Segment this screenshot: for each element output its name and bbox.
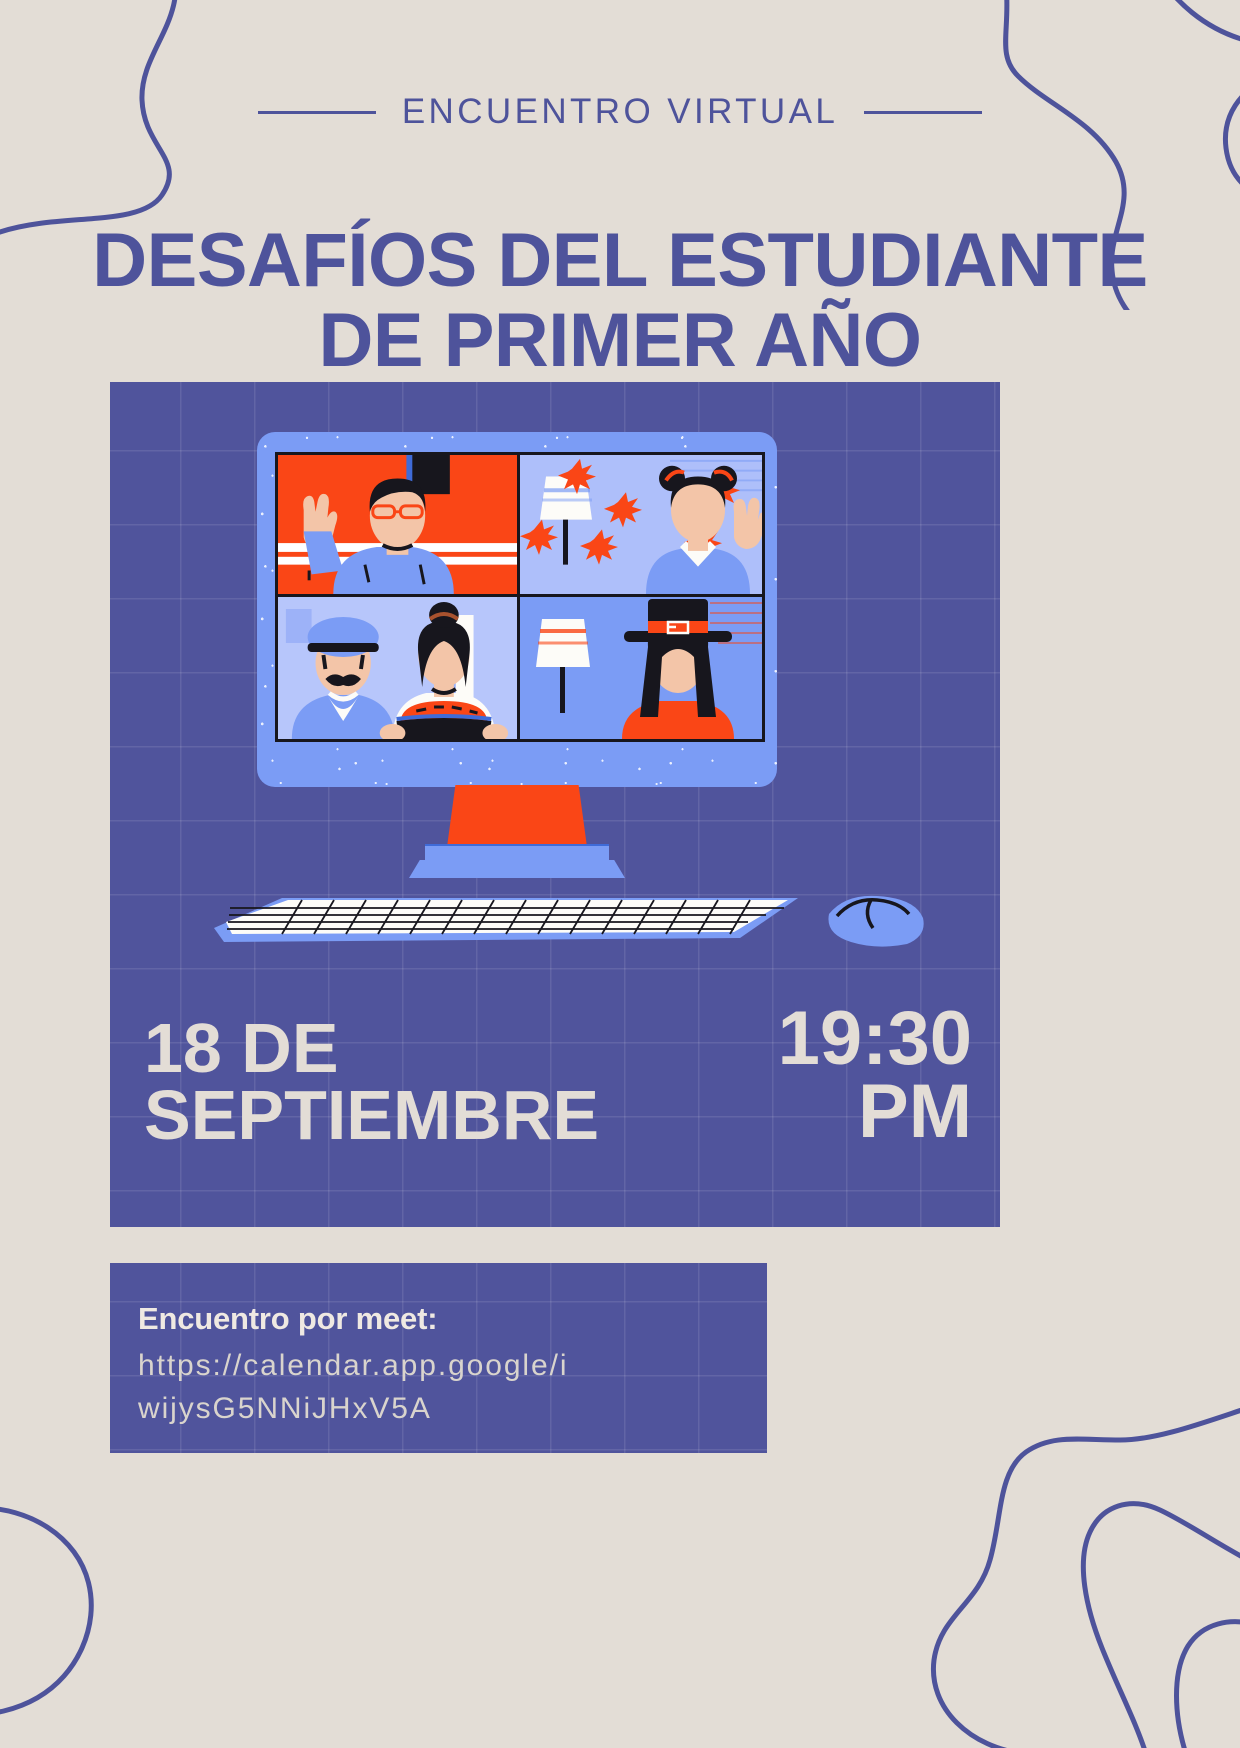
monitor-stand-top — [425, 846, 609, 862]
page-title-line1: DESAFÍOS DEL ESTUDIANTE — [92, 218, 1147, 303]
event-time-line1: 19:30 — [778, 1003, 972, 1076]
video-tile-participant-4 — [520, 597, 762, 739]
event-date: 18 DE SEPTIEMBRE — [144, 1015, 599, 1149]
event-time-line2: PM — [778, 1076, 972, 1149]
meet-info-box: Encuentro por meet: https://calendar.app… — [110, 1263, 767, 1453]
meet-label: Encuentro por meet: — [138, 1301, 767, 1337]
event-date-line1: 18 DE — [144, 1015, 599, 1082]
kicker-row: ENCUENTRO VIRTUAL — [0, 92, 1240, 132]
participant-4-avatar — [520, 597, 762, 739]
video-tile-participant-2 — [520, 455, 762, 597]
meet-link-line1: https://calendar.app.google/i — [138, 1349, 568, 1382]
video-tile-participant-3 — [278, 597, 520, 739]
keyboard-icon — [210, 894, 800, 946]
monitor-neck — [447, 785, 587, 847]
decorative-squiggle-bottom-left — [0, 1478, 260, 1748]
video-tile-participant-1 — [278, 455, 520, 597]
computer-monitor-icon — [257, 432, 777, 922]
page-title: DESAFÍOS DEL ESTUDIANTE DE PRIMER AÑO — [30, 221, 1210, 381]
participant-2-avatar — [520, 455, 762, 594]
decorative-squiggle-bottom-right — [830, 1398, 1240, 1748]
kicker-rule-left — [258, 111, 376, 114]
kicker-text: ENCUENTRO VIRTUAL — [402, 92, 838, 132]
video-call-grid — [275, 452, 765, 742]
kicker-rule-right — [864, 111, 982, 114]
poster-canvas: ENCUENTRO VIRTUAL DESAFÍOS DEL ESTUDIANT… — [0, 0, 1240, 1748]
mouse-icon — [815, 892, 927, 950]
monitor-stand-base — [409, 860, 625, 878]
participant-1-avatar — [278, 455, 517, 594]
page-title-line2: DE PRIMER AÑO — [30, 301, 1210, 381]
meet-link[interactable]: https://calendar.app.google/i wijysG5NNi… — [138, 1345, 738, 1430]
event-time: 19:30 PM — [778, 1003, 972, 1149]
main-illustration-panel: 18 DE SEPTIEMBRE 19:30 PM — [110, 382, 1000, 1227]
meet-link-line2: wijysG5NNiJHxV5A — [138, 1392, 432, 1425]
event-date-line2: SEPTIEMBRE — [144, 1082, 599, 1149]
participant-3-avatar — [278, 597, 517, 739]
